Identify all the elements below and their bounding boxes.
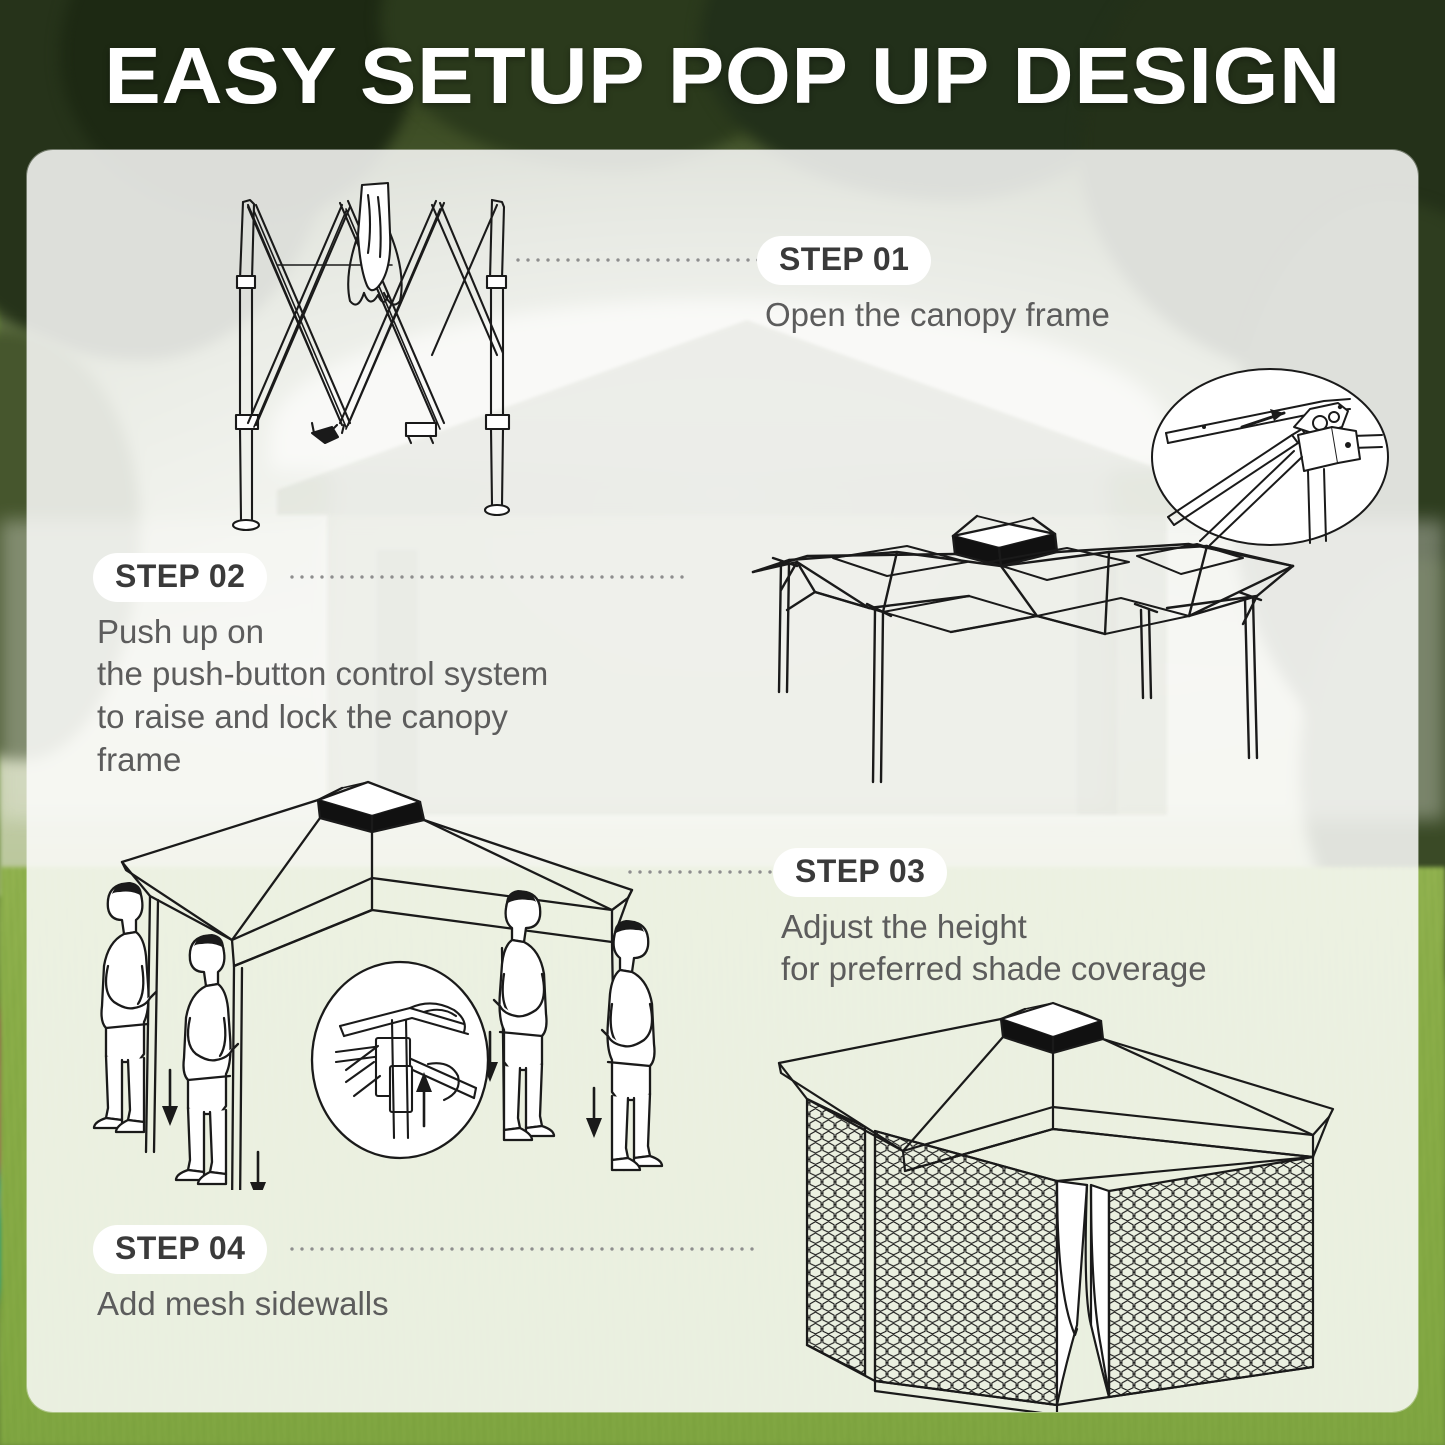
step-02-badge-row: STEP 02 xyxy=(93,553,687,602)
step-04-dot-leader xyxy=(287,1246,757,1252)
illustration-step-03-people-canopy xyxy=(72,770,692,1190)
step-02-block: STEP 02 Push up on the push-button contr… xyxy=(93,553,687,782)
step-02-description: Push up on the push-button control syste… xyxy=(97,611,687,783)
step-03-description: Adjust the height for preferred shade co… xyxy=(781,906,1207,992)
step-02-badge: STEP 02 xyxy=(93,553,267,602)
step-01-dot-leader xyxy=(513,257,757,263)
step-04-badge-row: STEP 04 xyxy=(93,1225,757,1274)
step-04-block: STEP 04 Add mesh sidewalls xyxy=(93,1225,757,1325)
step-04-description: Add mesh sidewalls xyxy=(97,1283,757,1326)
step-01-badge-row: STEP 01 xyxy=(513,236,1110,285)
step-01-description: Open the canopy frame xyxy=(765,294,1110,337)
step-04-badge: STEP 04 xyxy=(93,1225,267,1274)
step-03-badge: STEP 03 xyxy=(773,848,947,897)
illustration-step-04-mesh-gazebo xyxy=(757,995,1357,1412)
illustration-step-02-expanded-frame xyxy=(737,500,1307,790)
page-title: EASY SETUP POP UP DESIGN xyxy=(0,30,1445,122)
step-03-block: STEP 03 Adjust the height for preferred … xyxy=(625,848,1207,991)
step-01-block: STEP 01 Open the canopy frame xyxy=(513,236,1110,336)
step-01-badge: STEP 01 xyxy=(757,236,931,285)
step-03-dot-leader xyxy=(625,869,773,875)
step-03-badge-row: STEP 03 xyxy=(625,848,1207,897)
content-card: STEP 01 Open the canopy frame xyxy=(27,150,1418,1412)
step-02-dot-leader xyxy=(287,574,687,580)
illustration-step-01-folded-frame xyxy=(192,175,552,575)
